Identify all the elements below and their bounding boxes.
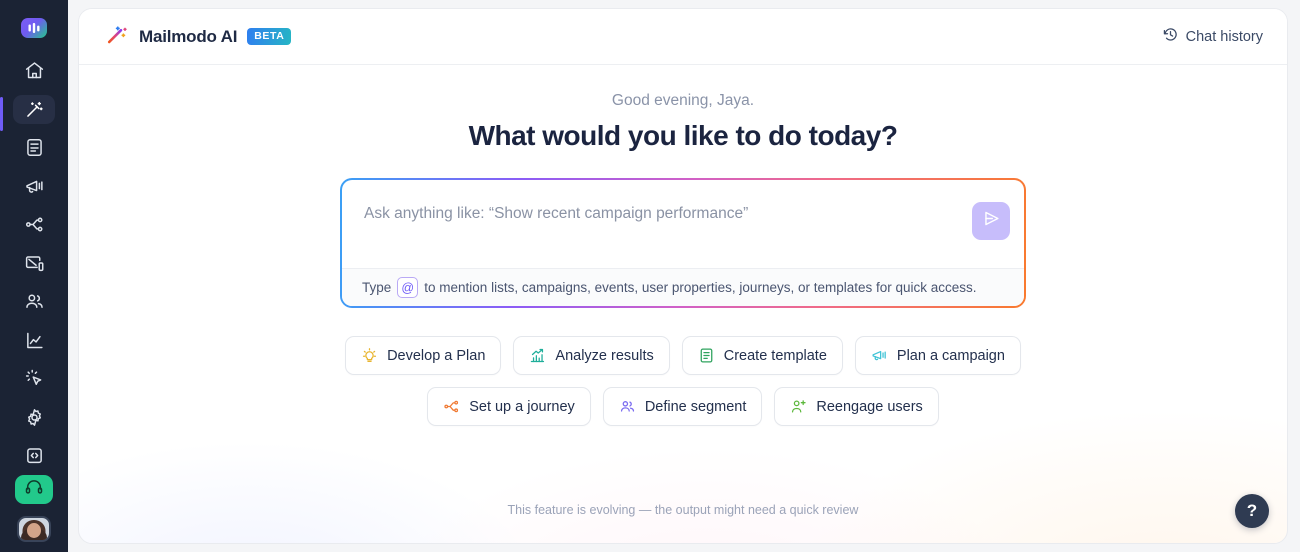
suggestion-label: Plan a campaign (897, 348, 1005, 364)
analytics-icon (24, 330, 45, 351)
main-area: Mailmodo AI BETA Chat history Good (68, 0, 1300, 552)
sidebar-item-templates[interactable] (13, 134, 55, 163)
bar-chart-icon (529, 347, 546, 364)
composer-hint: Type @ to mention lists, campaigns, even… (342, 268, 1024, 306)
suggestion-analyze-results[interactable]: Analyze results (513, 336, 669, 375)
user-plus-icon (790, 398, 807, 415)
page-title: What would you like to do today? (469, 120, 898, 152)
brand-name: Mailmodo AI (139, 27, 237, 47)
suggestion-plan-a-campaign[interactable]: Plan a campaign (855, 336, 1021, 375)
devices-icon (24, 253, 45, 274)
help-button[interactable]: ? (1235, 494, 1269, 528)
home-icon (24, 60, 45, 81)
greeting-text: Good evening, Jaya. (612, 92, 754, 110)
journey-icon (443, 398, 460, 415)
magic-wand-icon (24, 99, 45, 120)
megaphone-icon (24, 176, 45, 197)
users-icon (619, 398, 636, 415)
suggestion-create-template[interactable]: Create template (682, 336, 843, 375)
journey-icon (24, 214, 45, 235)
brand: Mailmodo AI BETA (105, 22, 291, 51)
headset-icon (24, 477, 44, 502)
ai-card: Mailmodo AI BETA Chat history Good (78, 8, 1288, 544)
gear-icon (24, 407, 45, 428)
avatar-face (27, 523, 41, 538)
sidebar-item-events[interactable] (13, 365, 55, 394)
suggestion-label: Define segment (645, 399, 747, 415)
sidebar-item-developers[interactable] (13, 442, 55, 471)
suggestion-set-up-a-journey[interactable]: Set up a journey (427, 387, 591, 426)
sidebar-item-ai[interactable] (13, 95, 55, 124)
chat-history-button[interactable]: Chat history (1162, 26, 1263, 47)
card-header: Mailmodo AI BETA Chat history (79, 9, 1287, 65)
suggestion-develop-a-plan[interactable]: Develop a Plan (345, 336, 501, 375)
composer-top: Ask anything like: “Show recent campaign… (342, 180, 1024, 268)
sidebar (0, 0, 68, 552)
send-button[interactable] (972, 202, 1010, 240)
support-button[interactable] (15, 475, 53, 504)
chat-history-label: Chat history (1186, 29, 1263, 45)
card-body: Good evening, Jaya. What would you like … (79, 65, 1287, 543)
history-icon (1162, 26, 1179, 47)
suggestion-row-2: Set up a journey De (323, 387, 1043, 426)
prompt-input[interactable]: Ask anything like: “Show recent campaign… (364, 202, 972, 268)
document-icon (698, 347, 715, 364)
lightbulb-icon (361, 347, 378, 364)
sidebar-item-campaigns[interactable] (13, 172, 55, 201)
megaphone-icon (871, 347, 888, 364)
mailmodo-logo[interactable] (21, 18, 47, 38)
suggestion-row-1: Develop a Plan Anal (323, 336, 1043, 375)
suggestion-reengage-users[interactable]: Reengage users (774, 387, 938, 426)
beta-badge: BETA (247, 28, 291, 45)
user-avatar[interactable] (17, 516, 51, 543)
mention-chip[interactable]: @ (397, 277, 418, 298)
sidebar-item-analytics[interactable] (13, 326, 55, 355)
suggestion-label: Analyze results (555, 348, 653, 364)
sidebar-item-journeys[interactable] (13, 211, 55, 240)
app-root: Mailmodo AI BETA Chat history Good (0, 0, 1300, 552)
hint-suffix: to mention lists, campaigns, events, use… (424, 280, 976, 295)
suggestion-label: Reengage users (816, 399, 922, 415)
magic-wand-icon (105, 22, 129, 51)
composer: Ask anything like: “Show recent campaign… (342, 180, 1024, 306)
sidebar-item-home[interactable] (13, 57, 55, 86)
composer-gradient-frame: Ask anything like: “Show recent campaign… (340, 178, 1026, 308)
template-icon (24, 137, 45, 158)
sidebar-item-contacts[interactable] (13, 288, 55, 317)
code-icon (24, 445, 45, 466)
click-icon (24, 368, 45, 389)
suggestion-label: Develop a Plan (387, 348, 485, 364)
sidebar-item-forms[interactable] (13, 249, 55, 278)
question-mark-icon: ? (1247, 501, 1257, 521)
disclaimer-text: This feature is evolving — the output mi… (79, 503, 1287, 517)
suggestion-label: Set up a journey (469, 399, 575, 415)
suggestion-label: Create template (724, 348, 827, 364)
users-icon (24, 291, 45, 312)
suggestion-define-segment[interactable]: Define segment (603, 387, 763, 426)
sidebar-item-settings[interactable] (13, 403, 55, 432)
hint-prefix: Type (362, 280, 391, 295)
suggestion-chips: Develop a Plan Anal (323, 336, 1043, 438)
send-icon (982, 209, 1001, 233)
